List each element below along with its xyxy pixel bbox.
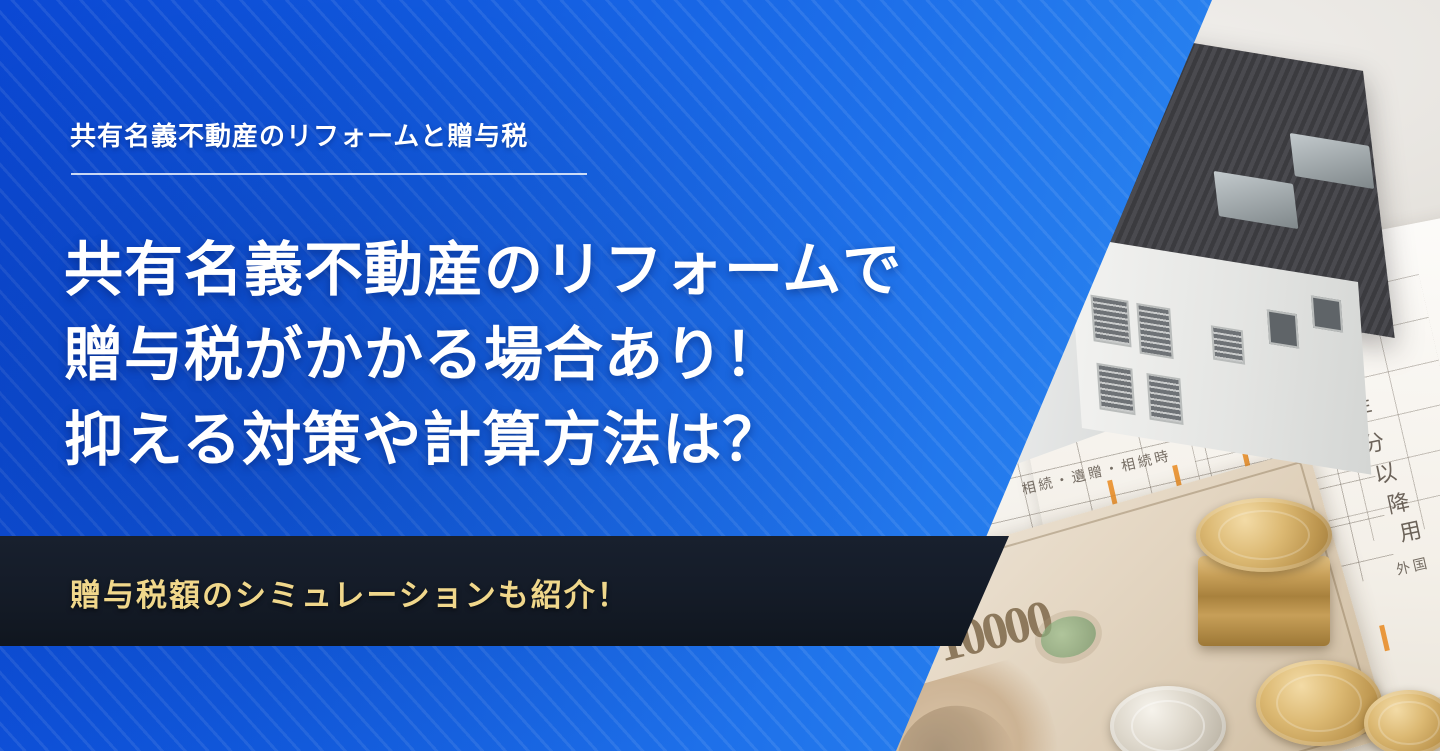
- house-window: [1311, 295, 1343, 332]
- kicker-text: 共有名義不動産のリフォームと贈与税: [70, 116, 528, 153]
- coin-500-yen-top: [1196, 498, 1332, 572]
- house-window: [1136, 303, 1173, 359]
- coin-500-yen-front: [1256, 660, 1382, 746]
- headline-line-2: 贈与税がかかる場合あり！: [64, 313, 944, 398]
- headline-line-1: 共有名義不動産のリフォームで: [64, 228, 944, 313]
- kicker-divider: [71, 173, 587, 175]
- house-window: [1267, 309, 1299, 348]
- hero-banner: 成 29 年 分 以 降 用 相続・遺贈・相続時 円 （ 外国 10000: [0, 0, 1440, 751]
- banknote-hologram: [1036, 610, 1101, 664]
- headline-line-3: 抑える対策や計算方法は？: [64, 398, 944, 483]
- house-window: [1096, 363, 1135, 415]
- house-window: [1211, 325, 1245, 365]
- house-window: [1146, 373, 1183, 425]
- subtitle-ribbon-text: 贈与税額のシミュレーションも紹介！: [70, 570, 630, 615]
- page-title: 共有名義不動産のリフォームで 贈与税がかかる場合あり！ 抑える対策や計算方法は？: [64, 228, 944, 483]
- house-window: [1090, 295, 1131, 348]
